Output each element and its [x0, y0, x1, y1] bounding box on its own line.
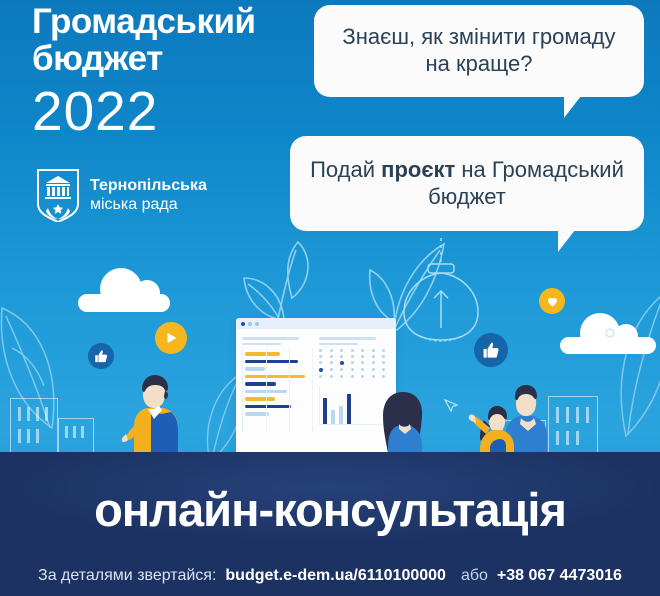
woman-presenting-illustration [118, 372, 196, 456]
building-left [10, 398, 58, 455]
contact-or-label: або [461, 567, 488, 585]
city-crest-icon [36, 168, 80, 222]
contact-row: За деталями звертайся: budget.e-dem.ua/6… [0, 567, 660, 585]
play-badge [155, 322, 187, 354]
contact-lead-label: За деталями звертайся: [38, 567, 216, 585]
thumbs-up-icon [482, 341, 501, 360]
leaf-right-icon [604, 286, 660, 456]
dashboard-bar-panel [242, 337, 313, 432]
thumbs-up-icon [94, 349, 109, 364]
poster-canvas: Громадський бюджет 2022 Тернопільська мі… [0, 0, 660, 596]
cloud-left [78, 294, 170, 312]
logo-name-line-1: Тернопільська [90, 176, 207, 195]
bubble-cta-text: Подай проєкт на Громадський бюджет [306, 157, 628, 211]
logo-name-line-2: міська рада [90, 195, 207, 214]
cursor-mark-icon [443, 398, 459, 419]
bubble-cta-post: на Громадський бюджет [428, 157, 624, 209]
bubble-cta-pre: Подай [310, 157, 381, 182]
dot-matrix-chart [319, 349, 390, 378]
lightbulb-icon [398, 236, 484, 366]
heart-icon [546, 295, 559, 308]
thumbs-up-badge-right [474, 333, 508, 367]
thumbs-up-badge-left [88, 343, 114, 369]
play-icon [164, 331, 178, 345]
bubble-question-tail [564, 96, 591, 118]
headline-line-2: бюджет [32, 41, 312, 78]
contact-url-link[interactable]: budget.e-dem.ua/6110100000 [225, 567, 446, 585]
headline-year: 2022 [32, 84, 312, 139]
headline-line-1: Громадський [32, 4, 312, 41]
headline-block: Громадський бюджет 2022 [32, 4, 312, 139]
dashboard-titlebar [236, 318, 396, 329]
bubble-question: Знаєш, як змінити громаду на краще? [314, 5, 644, 97]
bubble-question-text: Знаєш, як змінити громаду на краще? [328, 24, 630, 78]
dot-mark-icon [604, 326, 616, 344]
bottom-banner: онлайн-консультація За деталями звертайс… [0, 452, 660, 596]
horizontal-bar-chart [242, 348, 313, 432]
cta-headline: онлайн-консультація [0, 482, 660, 537]
bubble-call-to-action: Подай проєкт на Громадський бюджет [290, 136, 644, 231]
bubble-cta-tail [558, 230, 585, 252]
contact-phone-link[interactable]: +38 067 4473016 [497, 567, 622, 585]
building-left-2 [58, 418, 94, 455]
bubble-cta-bold: проєкт [381, 157, 455, 182]
city-council-logo: Тернопільська міська рада [36, 168, 207, 222]
woman-at-dashboard-illustration [368, 388, 438, 458]
couple-pointing-illustration [464, 372, 564, 458]
heart-badge [539, 288, 565, 314]
